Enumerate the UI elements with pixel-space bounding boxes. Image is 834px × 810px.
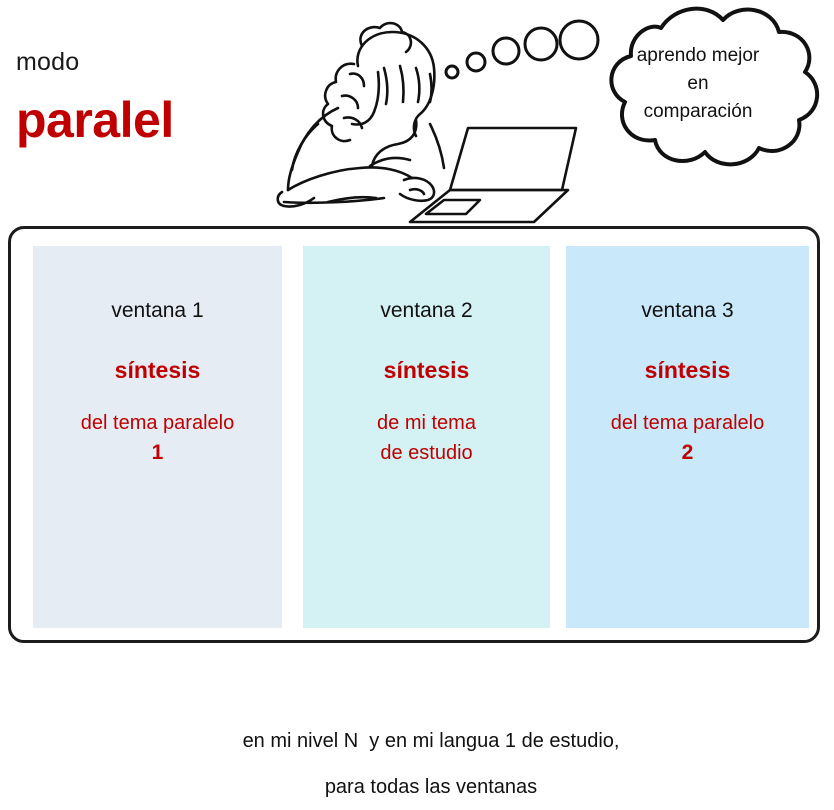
window-3-title: ventana 3 <box>566 298 809 324</box>
window-column-3[interactable]: ventana 3 síntesis del tema paralelo 2 <box>566 246 809 628</box>
bubble-text-line-2: en <box>592 70 804 98</box>
footer-caption-line-2: para todas las ventanas <box>41 764 821 810</box>
bubble-text-line-1: aprendo mejor <box>592 42 804 70</box>
panel-footer-caption: en mi nivel N y en mi langua 1 de estudi… <box>41 718 821 810</box>
window-1-synthesis-label: síntesis <box>33 356 282 384</box>
window-2-description-line-2: de estudio <box>303 438 550 468</box>
footer-caption-line-1: en mi nivel N y en mi langua 1 de estudi… <box>41 718 821 764</box>
window-2-description-line-1: de mi tema <box>377 412 476 434</box>
page-title: paralel <box>16 90 174 150</box>
window-1-title: ventana 1 <box>33 298 282 324</box>
window-column-1[interactable]: ventana 1 síntesis del tema paralelo 1 <box>33 246 282 628</box>
header-area: modo paralel <box>0 0 834 225</box>
bubble-text-line-3: comparación <box>592 98 804 126</box>
mode-label: modo <box>16 47 79 77</box>
window-3-description-line-2: 2 <box>566 438 809 468</box>
window-3-description: del tema paralelo 2 <box>566 408 809 468</box>
window-2-description: de mi tema de estudio <box>303 408 550 468</box>
window-2-title: ventana 2 <box>303 298 550 324</box>
window-2-synthesis-label: síntesis <box>303 356 550 384</box>
window-1-description-line-1: del tema paralelo <box>81 412 234 434</box>
thought-bubble-text: aprendo mejor en comparación <box>592 42 804 126</box>
window-3-synthesis-label: síntesis <box>566 356 809 384</box>
window-3-description-line-1: del tema paralelo <box>611 412 764 434</box>
window-1-description: del tema paralelo 1 <box>33 408 282 468</box>
window-1-description-line-2: 1 <box>33 438 282 468</box>
windows-panel: ventana 1 síntesis del tema paralelo 1 v… <box>8 226 820 643</box>
window-column-2[interactable]: ventana 2 síntesis de mi tema de estudio <box>303 246 550 628</box>
